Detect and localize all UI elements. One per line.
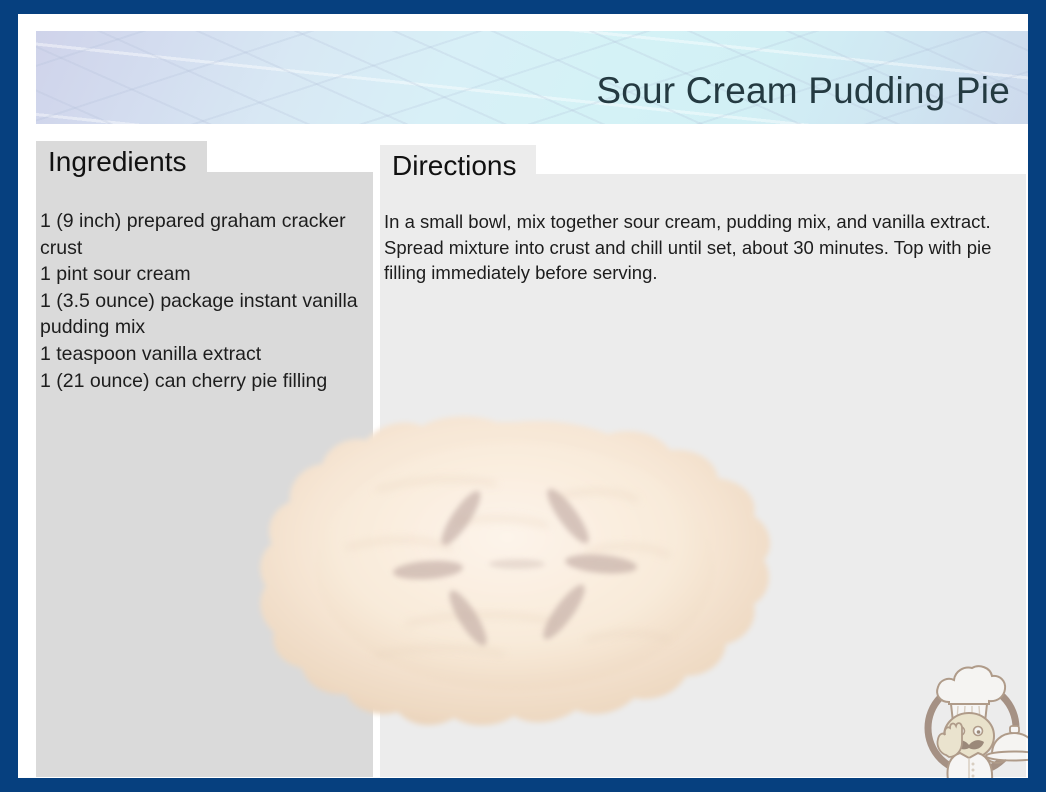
recipe-card: Sour Cream Pudding Pie Ingredients 1 (9 …: [0, 0, 1046, 792]
directions-section-heading: Directions: [380, 145, 536, 188]
ingredients-section-heading: Ingredients: [36, 141, 207, 184]
recipe-page-sheet: Sour Cream Pudding Pie Ingredients 1 (9 …: [18, 14, 1028, 778]
page-title: Sour Cream Pudding Pie: [596, 69, 1010, 113]
directions-text: In a small bowl, mix together sour cream…: [384, 209, 1018, 286]
header-banner: Sour Cream Pudding Pie: [36, 31, 1028, 124]
ingredients-list: 1 (9 inch) prepared graham cracker crust…: [40, 208, 360, 394]
